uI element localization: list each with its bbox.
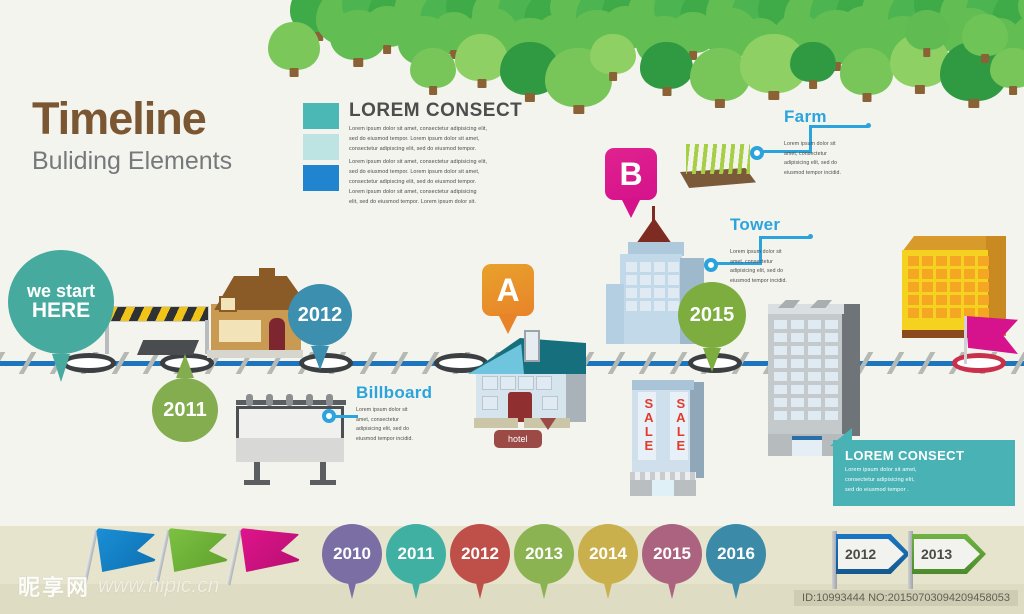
legend-heading: LOREM CONSECT xyxy=(349,101,538,120)
year-pin-stem xyxy=(603,579,613,599)
callout-farm: Farm Lorem ipsum dolor sitamet, consecte… xyxy=(784,108,876,177)
year-pin-label: 2011 xyxy=(386,524,446,584)
callout-billboard: Billboard Lorem ipsum dolor sitamet, con… xyxy=(356,384,436,443)
watermark-url: www.nipic.cn xyxy=(98,574,219,598)
tree-crown xyxy=(410,48,456,88)
lorem-line: amet, consectetur xyxy=(784,151,876,159)
lorem-line: consectetur adipisicing elit, xyxy=(845,476,1003,484)
pin-2015-tail xyxy=(703,348,721,372)
lorem-line: sed do eiusmod tempor. Lorem ipsum dolor… xyxy=(349,136,538,144)
legend-swatch-light-blue xyxy=(303,134,339,160)
office-tower xyxy=(760,300,870,460)
house-attic-window xyxy=(219,296,237,312)
tree-trunk xyxy=(525,93,535,102)
sale-text-left: SALE xyxy=(642,396,654,452)
callout-farm-title: Farm xyxy=(784,108,876,125)
year-pin-2013[interactable]: 2013 xyxy=(514,524,574,584)
tower-wing-left xyxy=(606,284,624,344)
start-pin-tail xyxy=(52,354,70,382)
pin-track-2012[interactable]: 2012 xyxy=(288,284,352,346)
year-pin-label: 2015 xyxy=(642,524,702,584)
year-pin-stem xyxy=(539,579,549,599)
sale-side xyxy=(690,382,704,478)
tree-trunk xyxy=(862,93,871,102)
house-door xyxy=(269,318,285,352)
lorem-line: sed do eiusmod tempor . xyxy=(845,486,1003,494)
infographic-canvas: Timeline Buliding Elements LOREM CONSECT… xyxy=(0,0,1024,614)
lorem-line: Lorem ipsum dolor sit amet, consectetur … xyxy=(349,159,538,167)
office-entrance xyxy=(792,436,822,456)
tree-crown xyxy=(840,48,893,95)
tree-trunk xyxy=(968,99,979,108)
year-pin-2010[interactable]: 2010 xyxy=(322,524,382,584)
hotel-side xyxy=(566,368,586,422)
year-pin-label: 2012 xyxy=(450,524,510,584)
tree-trunk xyxy=(573,105,584,114)
house-ground xyxy=(207,350,303,358)
pin-track-2015[interactable]: 2015 xyxy=(678,282,746,348)
barricade-board xyxy=(99,306,209,322)
tree-trunk xyxy=(429,86,437,95)
sale-text-right: SALE xyxy=(674,396,686,452)
farm-crops xyxy=(686,144,750,174)
hotel-window-left xyxy=(482,396,498,410)
lorem-line: adipisicing elit, sed do xyxy=(784,160,876,168)
marker-a-label: A xyxy=(482,264,534,316)
year-pin-label: 2016 xyxy=(706,524,766,584)
tree-trunk xyxy=(383,45,391,54)
office-windows xyxy=(774,320,838,420)
legend-paragraph-2: Lorem ipsum dolor sit amet, consectetur … xyxy=(349,159,538,206)
lorem-line: eiusmod tempor incidid. xyxy=(784,170,876,178)
year-pin-2011[interactable]: 2011 xyxy=(386,524,446,584)
year-pin-label: 2014 xyxy=(578,524,638,584)
legend-swatches xyxy=(303,101,339,207)
tree-trunk xyxy=(981,54,989,63)
year-pin-stem xyxy=(731,579,741,599)
tree xyxy=(268,22,320,78)
hotel-chimney xyxy=(524,330,540,362)
start-pin-line1: we start xyxy=(27,282,95,301)
tree xyxy=(790,42,836,90)
sale-building: SALE SALE xyxy=(628,378,708,496)
billboard-post-left xyxy=(254,462,260,482)
tree-crown xyxy=(640,42,693,89)
callout-farm-text: Lorem ipsum dolor sitamet, consecteturad… xyxy=(784,141,876,177)
callout-tower-title: Tower xyxy=(730,216,822,233)
tower-connector-dot[interactable] xyxy=(704,258,718,272)
lorem-line: adipisicing elit, sed do xyxy=(356,426,436,434)
office-roof xyxy=(768,304,844,314)
year-pin-label: 2013 xyxy=(514,524,574,584)
billboard-object xyxy=(228,392,350,484)
tree-crown xyxy=(268,22,320,70)
id-strip: ID:10993444 NO:20150703094209458053 xyxy=(794,590,1018,606)
pin-2012-bubble: 2012 xyxy=(288,284,352,346)
billboard-lamp-2 xyxy=(266,394,273,406)
lorem-line: consectetur adipiscing elit, sed do eius… xyxy=(349,179,538,187)
marker-b[interactable]: B xyxy=(605,148,657,200)
lorem-line: Lorem ipsum dolor sit amet, xyxy=(845,466,1003,474)
callout-billboard-text: Lorem ipsum dolor sitamet, consecteturad… xyxy=(356,407,436,443)
lorem-line: Lorem ipsum dolor sit amet, consectetur … xyxy=(349,189,538,197)
billboard-lamp-5 xyxy=(326,394,333,406)
year-pin-row: 2010201120122013201420152016 xyxy=(322,524,766,584)
tree-trunk xyxy=(353,58,363,67)
billboard-lamp-4 xyxy=(306,394,313,406)
watermark-cn: 昵享网 xyxy=(18,570,90,602)
tree-trunk xyxy=(477,79,486,88)
tower-windows xyxy=(626,262,679,311)
legend-paragraph-1: Lorem ipsum dolor sit amet, consectetur … xyxy=(349,126,538,153)
pin-2015-bubble: 2015 xyxy=(678,282,746,348)
watermark: 昵享网 www.nipic.cn xyxy=(18,570,219,602)
lorem-line: Lorem ipsum dolor sit amet, consectetur … xyxy=(349,126,538,134)
billboard-lamp-3 xyxy=(286,394,293,406)
billboard-connector-dot[interactable] xyxy=(322,409,336,423)
pin-2011-tail xyxy=(176,354,194,378)
tree-trunk xyxy=(662,87,671,96)
title-subtitle: Buliding Elements xyxy=(32,149,232,174)
year-pin-label: 2010 xyxy=(322,524,382,584)
year-pin-stem xyxy=(667,579,677,599)
lorem-line: adipisicing elit, sed do xyxy=(730,268,822,276)
lorem-line: Lorem ipsum dolor sit xyxy=(356,407,436,415)
marker-b-label: B xyxy=(605,148,657,200)
tree xyxy=(962,14,1008,64)
tree-trunk xyxy=(609,72,617,81)
hotel-roof-light xyxy=(468,344,524,374)
hotel-sign: hotel xyxy=(494,430,542,448)
gold-windows xyxy=(908,256,989,318)
tree-crown xyxy=(905,10,949,50)
infobox-text: Lorem ipsum dolor sit amet,consectetur a… xyxy=(845,466,1003,494)
tree-crown xyxy=(790,42,836,82)
callout-tower-text: Lorem ipsum dolor sitamet, consecteturad… xyxy=(730,249,822,285)
farm-connector-dot[interactable] xyxy=(750,146,764,160)
tree-trunk xyxy=(715,99,725,108)
hotel-planter-left xyxy=(474,418,518,428)
tree-trunk xyxy=(768,91,779,100)
start-pin-line2: HERE xyxy=(27,300,95,322)
tree-crown xyxy=(590,34,636,74)
barricade-base xyxy=(137,340,199,355)
marker-b-point xyxy=(621,198,641,218)
billboard-post-right xyxy=(320,462,326,482)
legend-swatch-blue xyxy=(303,165,339,191)
year-pin-stem xyxy=(475,579,485,599)
year-pin-2012[interactable]: 2012 xyxy=(450,524,510,584)
billboard-foot-left xyxy=(244,480,270,485)
legend-swatch-teal xyxy=(303,103,339,129)
tree xyxy=(410,48,456,96)
infobox-heading: LOREM CONSECT xyxy=(845,449,1003,462)
billboard-foot-right xyxy=(310,480,336,485)
sale-entrance xyxy=(652,480,674,496)
start-pin-bubble: we start HERE xyxy=(8,250,114,354)
lorem-line: Lorem ipsum dolor sit xyxy=(784,141,876,149)
year-pin-2015[interactable]: 2015 xyxy=(642,524,702,584)
tree xyxy=(840,48,893,103)
tree-trunk xyxy=(923,48,930,57)
tree-crown xyxy=(962,14,1008,56)
hotel-sign-tail xyxy=(540,418,556,430)
pin-track-2011[interactable]: 2011 xyxy=(152,378,218,442)
billboard-lamp-1 xyxy=(246,394,253,406)
pin-we-start-here[interactable]: we start HERE xyxy=(8,250,114,354)
tree xyxy=(590,34,636,82)
billboard-panel-shade xyxy=(236,438,344,462)
sale-roof xyxy=(632,380,694,390)
office-side xyxy=(842,304,860,436)
callout-tower: Tower Lorem ipsum dolor sitamet, consect… xyxy=(730,216,822,285)
year-pin-2016[interactable]: 2016 xyxy=(706,524,766,584)
lorem-line: amet, consectetur xyxy=(730,259,822,267)
end-flag-pole xyxy=(964,316,967,364)
tree-trunk xyxy=(1009,86,1017,95)
page-title: Timeline Buliding Elements xyxy=(32,96,232,174)
tower-antenna xyxy=(652,206,655,222)
year-pin-2014[interactable]: 2014 xyxy=(578,524,638,584)
pin-2011-bubble: 2011 xyxy=(152,378,218,442)
lorem-line: eiusmod tempor incidid. xyxy=(356,436,436,444)
lorem-line: sed do eiusmod tempor. Lorem ipsum dolor… xyxy=(349,169,538,177)
tree-trunk xyxy=(809,80,817,89)
hotel-windows-top xyxy=(482,376,552,390)
pin-2012-tail xyxy=(311,346,329,370)
title-main: Timeline xyxy=(32,96,232,141)
end-flag-cloth xyxy=(966,316,1018,354)
callout-billboard-title: Billboard xyxy=(356,384,436,401)
marker-a[interactable]: A xyxy=(482,264,534,316)
tree-trunk xyxy=(290,68,299,77)
legend-block: LOREM CONSECT Lorem ipsum dolor sit amet… xyxy=(303,101,538,207)
house-garage xyxy=(219,320,261,342)
lorem-line: Lorem ipsum dolor sit xyxy=(730,249,822,257)
tree-trunk xyxy=(915,85,925,94)
house-chimney xyxy=(259,268,275,286)
year-pin-stem xyxy=(347,579,357,599)
lorem-line: consectetur adipiscing elit, sed do eius… xyxy=(349,146,538,154)
infobox-lorem: LOREM CONSECT Lorem ipsum dolor sit amet… xyxy=(833,440,1015,506)
tree xyxy=(640,42,693,97)
lorem-line: elit, sed do eiusmod tempor. Lorem ipsum… xyxy=(349,199,538,207)
tree xyxy=(905,10,949,58)
year-pin-stem xyxy=(411,579,421,599)
lorem-line: amet, consectetur xyxy=(356,417,436,425)
hotel-window-right xyxy=(542,396,558,410)
end-flag xyxy=(962,310,1022,370)
